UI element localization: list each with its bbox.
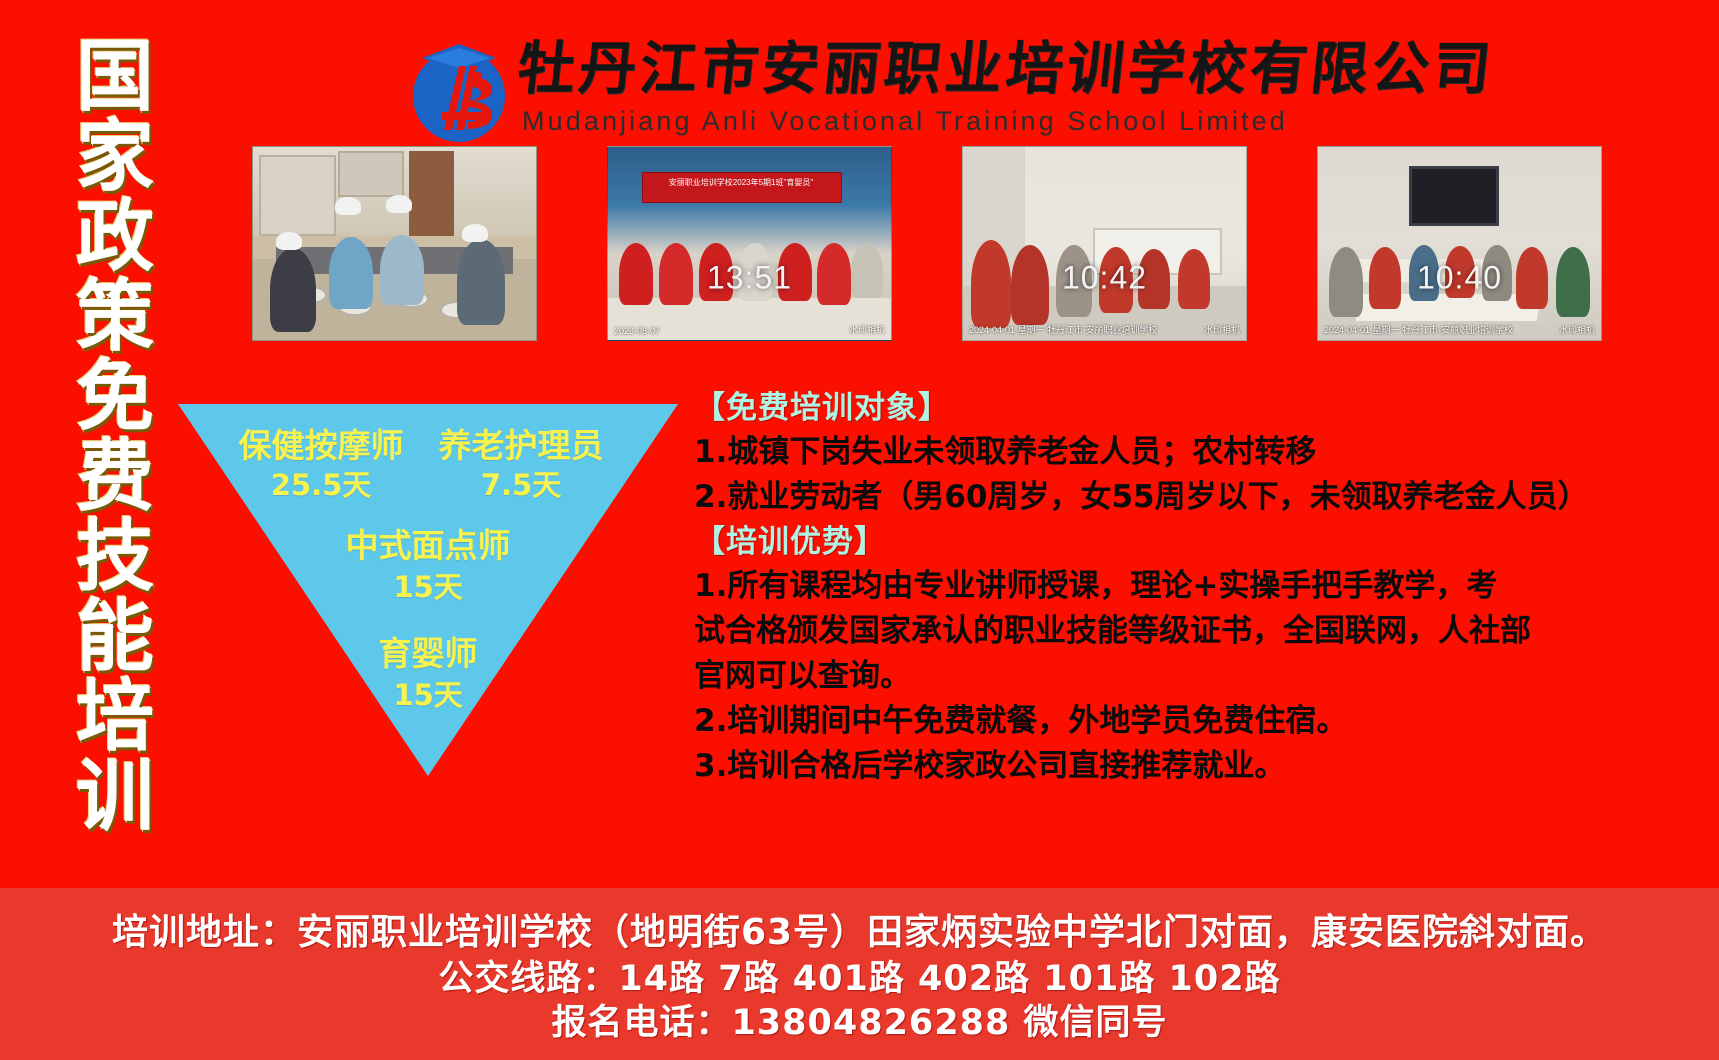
photo-timestamp: 10:40 bbox=[1417, 260, 1502, 297]
photo-timestamp: 10:42 bbox=[1062, 260, 1147, 297]
footer-bus-routes: 公交线路：14路 7路 401路 402路 101路 102路 bbox=[438, 957, 1280, 1001]
photo-watermark: 水印相机 bbox=[1204, 323, 1240, 336]
company-name-en: Mudanjiang Anli Vocational Training Scho… bbox=[522, 106, 1288, 136]
vertical-headline: 国 家 政 策 免 费 技 能 培 训 bbox=[60, 38, 170, 838]
photo-date-stamp: 2024-04-01 星期一 牡丹江市 安丽职业培训学校 bbox=[969, 323, 1158, 336]
info-block: 【免费培训对象】 1.城镇下岗失业未领取养老金人员；农村转移 2.就业劳动者（男… bbox=[694, 386, 1704, 789]
course-days-3: 15天 bbox=[328, 678, 528, 712]
footer-address: 培训地址：安丽职业培训学校（地明街63号）田家炳实验中学北门对面，康安医院斜对面… bbox=[112, 909, 1607, 957]
photo-group-with-banner: 安丽职业培训学校2023年5期1班"育婴员" 13:51 2023-08-07 … bbox=[607, 146, 892, 341]
course-name-1: 养老护理员 bbox=[426, 428, 616, 464]
course-days-0: 25.5天 bbox=[226, 468, 416, 502]
section-line: 3.培训合格后学校家政公司直接推荐就业。 bbox=[694, 744, 1704, 789]
vertical-headline-char: 政 bbox=[76, 198, 154, 276]
photo-pastry-kitchen-class bbox=[252, 146, 537, 341]
vertical-headline-char: 培 bbox=[76, 678, 154, 756]
course-days-2: 15天 bbox=[328, 570, 528, 604]
vertical-headline-char: 策 bbox=[76, 278, 154, 356]
photo-date-stamp: 2024-04-01 星期一 牡丹江市·安丽职业培训学校 bbox=[1324, 323, 1513, 336]
photo-banner-text: 安丽职业培训学校2023年5期1班"育婴员" bbox=[648, 177, 835, 188]
vertical-headline-char: 家 bbox=[76, 118, 154, 196]
section-line: 官网可以查询。 bbox=[694, 654, 1704, 699]
vertical-headline-char: 技 bbox=[76, 518, 154, 596]
vertical-headline-char: 费 bbox=[76, 438, 154, 516]
section-line: 1.城镇下岗失业未领取养老金人员；农村转移 bbox=[694, 430, 1704, 475]
photo-date-stamp: 2023-08-07 bbox=[614, 326, 660, 336]
header: 牡丹江市安丽职业培训学校有限公司 Mudanjiang Anli Vocatio… bbox=[400, 18, 1300, 143]
photo-watermark: 水印相机 bbox=[849, 323, 885, 336]
photo-lecture-classroom: 10:40 2024-04-01 星期一 牡丹江市·安丽职业培训学校 水印相机 bbox=[1317, 146, 1602, 341]
poster-root: 国 家 政 策 免 费 技 能 培 训 牡丹江 bbox=[0, 0, 1719, 1060]
photo-elder-care-practice: 10:42 2024-04-01 星期一 牡丹江市 安丽职业培训学校 水印相机 bbox=[962, 146, 1247, 341]
section-heading-advantages: 【培训优势】 bbox=[694, 520, 1704, 564]
course-name-2: 中式面点师 bbox=[328, 528, 528, 564]
photo-strip: 安丽职业培训学校2023年5期1班"育婴员" 13:51 2023-08-07 … bbox=[252, 146, 1602, 341]
course-name-3: 育婴师 bbox=[328, 636, 528, 672]
footer-phone: 报名电话：13804826288 微信同号 bbox=[551, 1001, 1167, 1045]
vertical-headline-char: 免 bbox=[76, 358, 154, 436]
company-name-cn: 牡丹江市安丽职业培训学校有限公司 bbox=[515, 38, 1498, 100]
section-line: 2.培训期间中午免费就餐，外地学员免费住宿。 bbox=[694, 699, 1704, 744]
anli-school-logo-icon bbox=[400, 26, 518, 146]
section-line: 试合格颁发国家承认的职业技能等级证书，全国联网，人社部 bbox=[694, 609, 1704, 654]
section-line: 2.就业劳动者（男60周岁，女55周岁以下，未领取养老金人员） bbox=[694, 475, 1704, 520]
section-line: 1.所有课程均由专业讲师授课，理论+实操手把手教学，考 bbox=[694, 564, 1704, 609]
section-heading-free-target: 【免费培训对象】 bbox=[694, 386, 1704, 430]
photo-timestamp: 13:51 bbox=[707, 260, 792, 297]
course-triangle: 保健按摩师 25.5天 养老护理员 7.5天 中式面点师 15天 育婴师 15天 bbox=[178, 404, 678, 776]
vertical-headline-char: 能 bbox=[76, 598, 154, 676]
photo-watermark: 水印相机 bbox=[1559, 323, 1595, 336]
vertical-headline-char: 训 bbox=[76, 758, 154, 836]
vertical-headline-char: 国 bbox=[76, 38, 154, 116]
course-days-1: 7.5天 bbox=[426, 468, 616, 502]
footer-contact: 培训地址：安丽职业培训学校（地明街63号）田家炳实验中学北门对面，康安医院斜对面… bbox=[0, 888, 1719, 1060]
course-name-0: 保健按摩师 bbox=[226, 428, 416, 464]
